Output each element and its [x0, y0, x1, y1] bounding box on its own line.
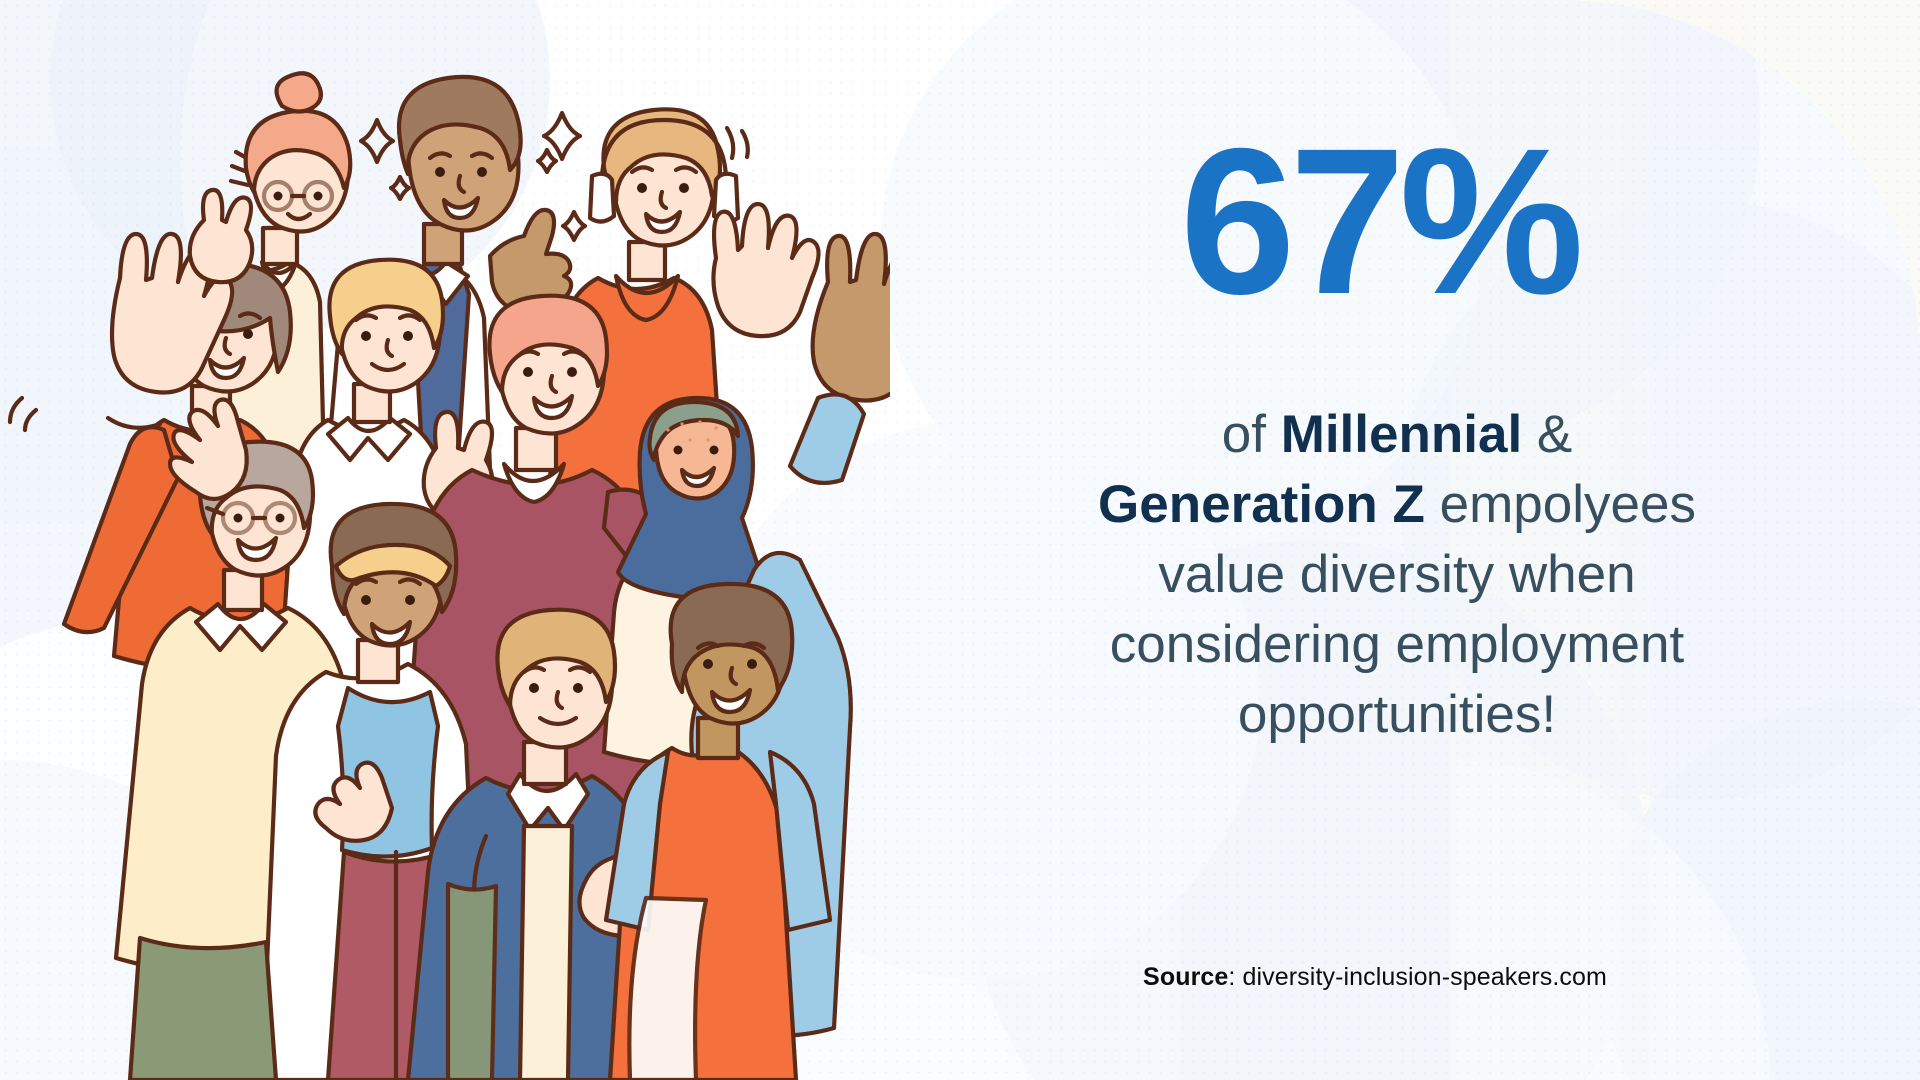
stat-percentage: 67%	[890, 118, 1868, 326]
source-separator: :	[1228, 963, 1242, 991]
source-label: Source	[1143, 963, 1228, 991]
headline-line-5: opportunities!	[930, 680, 1864, 750]
infographic-canvas: .o { fill:none; stroke:#5c2b18; stroke-w…	[0, 0, 1920, 1080]
headline-prefix: of	[1222, 405, 1281, 464]
headline-employees: empolyees	[1425, 475, 1696, 534]
headline-block: of Millennial & Generation Z empolyees v…	[930, 400, 1864, 750]
headline-suffix-amp: &	[1522, 405, 1572, 464]
source-url: diversity-inclusion-speakers.com	[1243, 963, 1607, 991]
people-illustration-svg: .o { fill:none; stroke:#5c2b18; stroke-w…	[0, 0, 890, 1080]
stat-text-panel: 67% of Millennial & Generation Z empolye…	[890, 0, 1920, 1080]
headline-line-3: value diversity when	[930, 540, 1864, 610]
people-illustration: .o { fill:none; stroke:#5c2b18; stroke-w…	[0, 0, 890, 1080]
source-attribution: Source: diversity-inclusion-speakers.com	[890, 963, 1860, 992]
headline-line-2: Generation Z empolyees	[930, 470, 1864, 540]
headline-line-1: of Millennial &	[930, 400, 1864, 470]
headline-line-4: considering employment	[930, 610, 1864, 680]
headline-bold-millennial: Millennial	[1281, 405, 1522, 464]
headline-bold-genz: Generation Z	[1098, 475, 1425, 534]
